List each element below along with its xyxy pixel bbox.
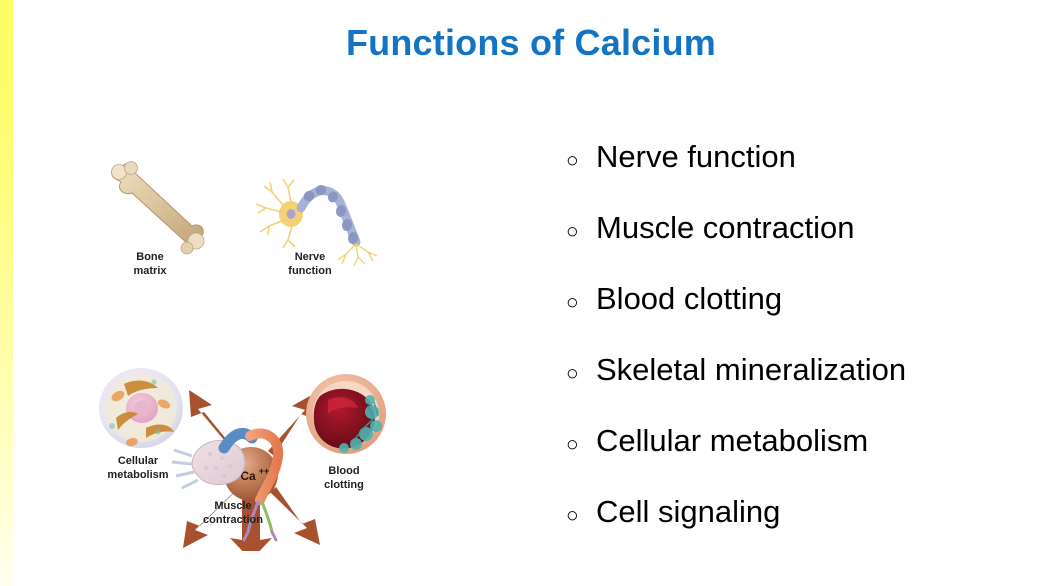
blood-clot-icon — [306, 374, 386, 454]
list-item-label: Muscle contraction — [596, 212, 854, 243]
list-item-label: Cellular metabolism — [596, 425, 868, 456]
left-accent-stripe — [0, 0, 13, 586]
list-item-label: Blood clotting — [596, 283, 782, 314]
svg-text:matrix: matrix — [133, 265, 167, 277]
list-item: ○ Nerve function — [566, 141, 1046, 212]
hollow-circle-bullet-icon: ○ — [566, 150, 596, 171]
list-item-label: Nerve function — [596, 141, 796, 172]
svg-text:Bone: Bone — [136, 251, 164, 263]
bone-matrix-label: Bone matrix — [133, 251, 167, 277]
list-item-label: Cell signaling — [596, 496, 780, 527]
hollow-circle-bullet-icon: ○ — [566, 363, 596, 384]
svg-text:Nerve: Nerve — [295, 251, 326, 263]
list-item: ○ Cellular metabolism — [566, 425, 1046, 496]
svg-text:Cellular: Cellular — [118, 455, 159, 467]
list-item: ○ Skeletal mineralization — [566, 354, 1046, 425]
hollow-circle-bullet-icon: ○ — [566, 221, 596, 242]
nerve-function-label: Nerve function — [288, 251, 332, 277]
functions-list: ○ Nerve function ○ Muscle contraction ○ … — [566, 141, 1046, 567]
svg-text:clotting: clotting — [324, 479, 364, 491]
blood-clotting-label: Blood clotting — [324, 465, 364, 491]
svg-text:metabolism: metabolism — [107, 469, 168, 481]
list-item: ○ Cell signaling — [566, 496, 1046, 567]
slide-canvas: Functions of Calcium — [0, 0, 1062, 586]
svg-text:Muscle: Muscle — [214, 500, 251, 512]
cellular-metabolism-label: Cellular metabolism — [107, 455, 168, 481]
cell-icon — [99, 368, 183, 448]
hollow-circle-bullet-icon: ○ — [566, 434, 596, 455]
svg-text:Blood: Blood — [328, 465, 359, 477]
list-item-label: Skeletal mineralization — [596, 354, 906, 385]
hollow-circle-bullet-icon: ○ — [566, 292, 596, 313]
hollow-circle-bullet-icon: ○ — [566, 505, 596, 526]
list-item: ○ Blood clotting — [566, 283, 1046, 354]
svg-text:function: function — [288, 265, 332, 277]
bone-icon — [112, 162, 205, 255]
list-item: ○ Muscle contraction — [566, 212, 1046, 283]
page-title: Functions of Calcium — [0, 22, 1062, 64]
svg-text:contraction: contraction — [203, 514, 263, 526]
calcium-functions-diagram: Ca ++ Bone matrix — [88, 156, 408, 551]
